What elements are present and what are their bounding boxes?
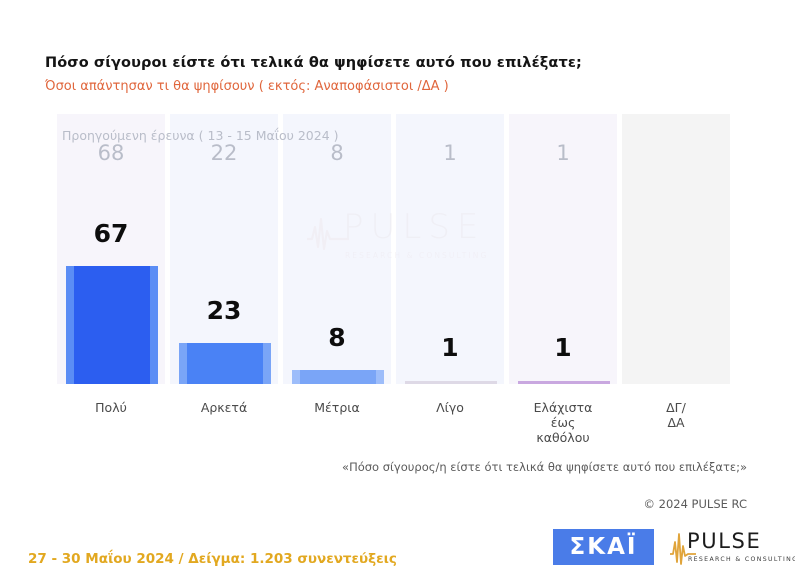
bar-edge-right: [263, 343, 271, 384]
category-label-line: ΔΓ/: [618, 400, 734, 415]
category-label-ligo: Λίγο: [392, 400, 508, 415]
category-label-arketa: Αρκετά: [166, 400, 282, 415]
bar-edge-right: [150, 266, 158, 384]
category-label-line: ΔΑ: [618, 415, 734, 430]
page-title: Πόσο σίγουροι είστε ότι τελικά θα ψηφίσε…: [45, 55, 755, 71]
category-label-elaxista: Ελάχιστα έως καθόλου: [505, 400, 621, 445]
bar-edge-left: [292, 370, 300, 384]
bar-value-arketa: 23: [170, 296, 278, 325]
pulse-logo-subtext: RESEARCH & CONSULTING: [688, 556, 795, 563]
bar-edge-left: [179, 343, 187, 384]
bar-core: [74, 266, 150, 384]
bar-value-metria: 8: [283, 323, 391, 352]
category-label-line: Ελάχιστα: [505, 400, 621, 415]
category-label-line: καθόλου: [505, 430, 621, 445]
bar-metria: [292, 370, 384, 384]
previous-value-metria: 8: [283, 141, 391, 165]
previous-value-ligo: 1: [396, 141, 504, 165]
footer-question: «Πόσο σίγουρος/η είστε ότι τελικά θα ψηφ…: [342, 460, 747, 474]
skai-logo: ΣΚΑΪ: [553, 529, 654, 565]
bar-core: [300, 370, 376, 384]
previous-value-elaxista: 1: [509, 141, 617, 165]
category-label-poly: Πολύ: [53, 400, 169, 415]
copyright-text: © 2024 PULSE RC: [643, 497, 747, 511]
bar-poly: [66, 266, 158, 384]
bar-arketa: [179, 343, 271, 384]
category-label-dg-da: ΔΓ/ ΔΑ: [618, 400, 734, 430]
bar-value-ligo: 1: [396, 333, 504, 362]
pulse-logo-text: PULSE: [687, 529, 761, 553]
previous-value-poly: 68: [57, 141, 165, 165]
bar-core: [187, 343, 263, 384]
bar-core: [518, 381, 610, 384]
category-label-metria: Μέτρια: [279, 400, 395, 415]
chart-header: Πόσο σίγουροι είστε ότι τελικά θα ψηφίσε…: [45, 55, 755, 94]
bar-core: [405, 381, 497, 384]
bar-elaxista: [518, 381, 610, 384]
category-label-line: έως: [505, 415, 621, 430]
previous-value-arketa: 22: [170, 141, 278, 165]
pulse-logo: PULSE RESEARCH & CONSULTING: [672, 528, 784, 568]
bar-ligo: [405, 381, 497, 384]
bar-value-poly: 67: [57, 219, 165, 248]
bar-edge-right: [376, 370, 384, 384]
chart-subtitle: Όσοι απάντησαν τι θα ψηφίσουν ( εκτός: Α…: [45, 79, 755, 94]
bar-value-elaxista: 1: [509, 333, 617, 362]
bar-edge-left: [66, 266, 74, 384]
column-panel-dg-da: [622, 114, 730, 384]
survey-date-sample: 27 - 30 Μαΐου 2024 / Δείγμα: 1.203 συνεν…: [28, 551, 397, 567]
